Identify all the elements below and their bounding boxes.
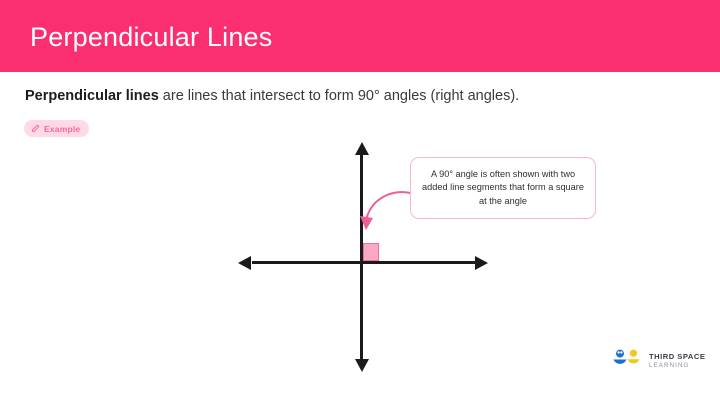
example-badge: Example bbox=[24, 120, 89, 137]
example-badge-label: Example bbox=[44, 124, 80, 134]
page-title: Perpendicular Lines bbox=[30, 18, 272, 56]
third-space-learning-mark-icon bbox=[612, 348, 642, 375]
brand-logo: THIRD SPACE LEARNING bbox=[612, 348, 705, 375]
logo-secondary-text: LEARNING bbox=[649, 363, 705, 369]
arrow-right-icon bbox=[475, 256, 488, 270]
arrow-down-icon bbox=[355, 359, 369, 372]
pencil-icon bbox=[31, 124, 40, 133]
logo-text: THIRD SPACE LEARNING bbox=[649, 353, 705, 369]
right-angle-square bbox=[363, 243, 379, 261]
slide-canvas: Perpendicular Lines Perpendicular lines … bbox=[0, 0, 720, 407]
horizontal-axis-line bbox=[252, 261, 480, 264]
logo-primary-text: THIRD SPACE bbox=[649, 353, 705, 361]
definition-remainder: are lines that intersect to form 90° ang… bbox=[159, 88, 519, 104]
callout-box: A 90° angle is often shown with two adde… bbox=[410, 157, 596, 219]
header-bar: Perpendicular Lines bbox=[0, 0, 720, 72]
arrow-left-icon bbox=[238, 256, 251, 270]
definition-term: Perpendicular lines bbox=[25, 88, 159, 104]
arrow-up-icon bbox=[355, 142, 369, 155]
callout-text: A 90° angle is often shown with two adde… bbox=[411, 168, 595, 209]
definition-text: Perpendicular lines are lines that inter… bbox=[25, 86, 519, 106]
